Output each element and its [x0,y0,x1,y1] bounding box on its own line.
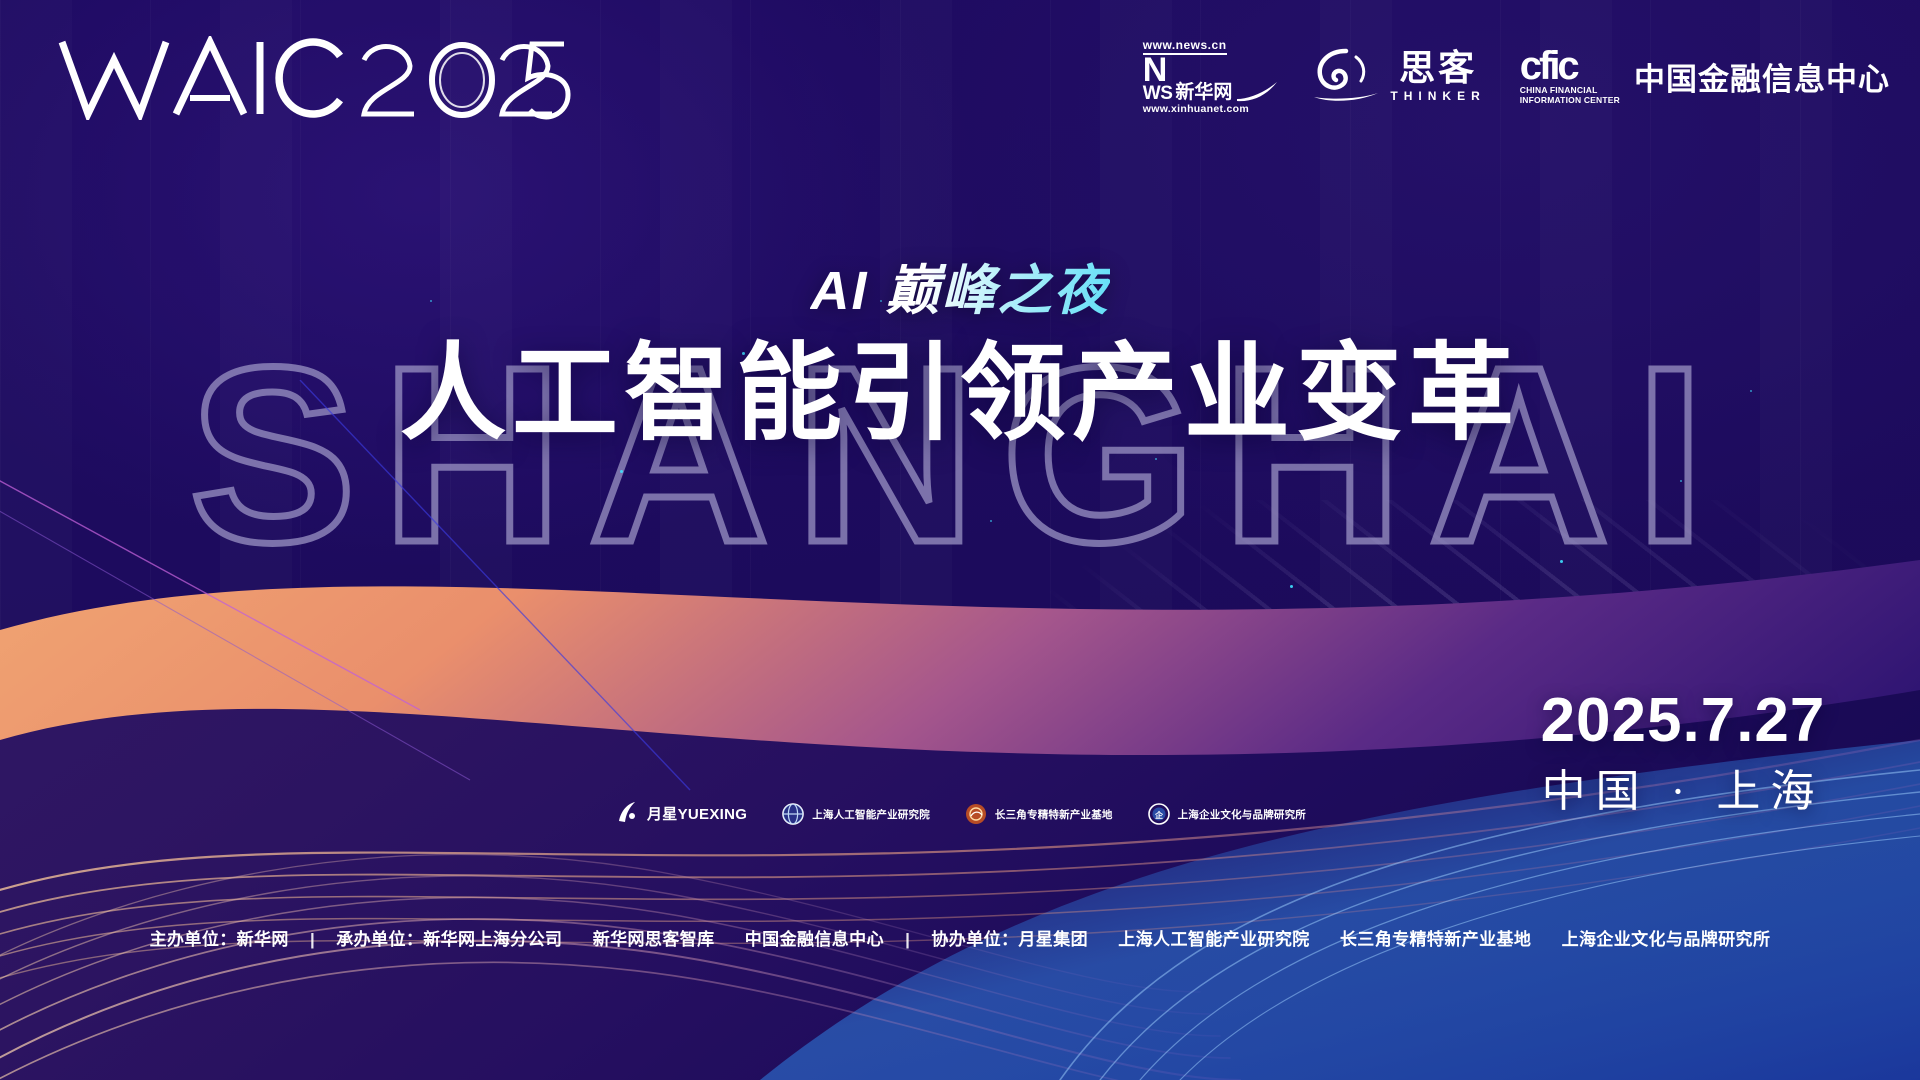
xinhua-cn: 新华网 [1175,83,1232,102]
xinhua-ws: WS [1143,85,1173,102]
xinhua-url-bottom: www.xinhuanet.com [1143,103,1249,115]
footer-organizer-3: 中国金融信息中心 [745,930,884,949]
footer-host: 主办单位：新华网 [150,930,289,949]
sponsor-name: 上海人工智能产业研究院 [812,807,930,822]
sponsor-logo-yangtze-base: 长三角专精特新产业基地 [964,802,1113,826]
sponsor-name: 月星YUEXING [647,803,747,824]
thinker-brush-icon [1312,47,1380,105]
footer-coorganizer-2: 上海人工智能产业研究院 [1118,930,1309,949]
sponsor-logo-yuexing: 月星YUEXING [614,800,747,826]
thinker-cn: 思客 [1399,50,1477,86]
cfic-mark: cfic [1520,47,1620,85]
title-block: AI 巅峰之夜 人工智能引领产业变革 [0,262,1920,454]
partner-thinker: 思客 THINKER [1312,47,1485,105]
circle-emblem-icon [964,802,988,826]
cfic-en-line1: CHINA FINANCIAL [1520,85,1620,96]
event-date: 2025.7.27 [1518,690,1848,752]
footer-coorganizer-1: 协办单位：月星集团 [931,930,1088,949]
waic-logo [58,36,578,120]
footer-coorganizer-4: 上海企业文化与品牌研究所 [1562,930,1771,949]
cfic-en-line2: INFORMATION CENTER [1520,95,1620,106]
badge-icon: 企 [1147,802,1171,826]
svg-text:企: 企 [1154,810,1164,820]
thinker-en: THINKER [1390,89,1485,103]
event-headline: 人工智能引领产业变革 [0,335,1920,454]
footer-credits: 主办单位：新华网 | 承办单位：新华网上海分公司 新华网思客智库 中国金融信息中… [0,925,1920,950]
yuexing-star-icon [614,800,640,826]
sponsor-logo-ai-institute: 上海人工智能产业研究院 [781,802,930,826]
partner-logos: www.news.cn N WS 新华网 www.xinhuanet.com [1143,38,1890,115]
footer-organizer-1: 承办单位：新华网上海分公司 [336,930,562,949]
banner-canvas: SHANGHAI [0,0,1920,1080]
event-subtitle: AI 巅峰之夜 [810,262,1109,321]
footer-separator-2: | [905,930,910,950]
banner-header: www.news.cn N WS 新华网 www.xinhuanet.com [0,0,1920,150]
footer-separator-1: | [310,930,315,950]
partner-xinhua: www.news.cn N WS 新华网 www.xinhuanet.com [1143,38,1279,115]
globe-icon [781,802,805,826]
xinhua-initial: N [1143,57,1173,85]
sponsor-name: 长三角专精特新产业基地 [995,807,1113,822]
date-block: 2025.7.27 中国 · 上海 [1518,690,1848,814]
sponsor-logo-strip: 月星YUEXING 上海人工智能产业研究院 长三角专精特新产业基地 [0,800,1920,826]
footer-coorganizer-3: 长三角专精特新产业基地 [1340,930,1531,949]
xinhua-swoosh-icon [1236,80,1278,102]
footer-organizer-2: 新华网思客智库 [593,930,715,949]
partner-cfic: cfic CHINA FINANCIAL INFORMATION CENTER … [1520,47,1890,106]
cfic-cn: 中国金融信息中心 [1634,54,1890,99]
sponsor-name: 上海企业文化与品牌研究所 [1178,807,1306,822]
sponsor-logo-brand-institute: 企 上海企业文化与品牌研究所 [1147,802,1306,826]
